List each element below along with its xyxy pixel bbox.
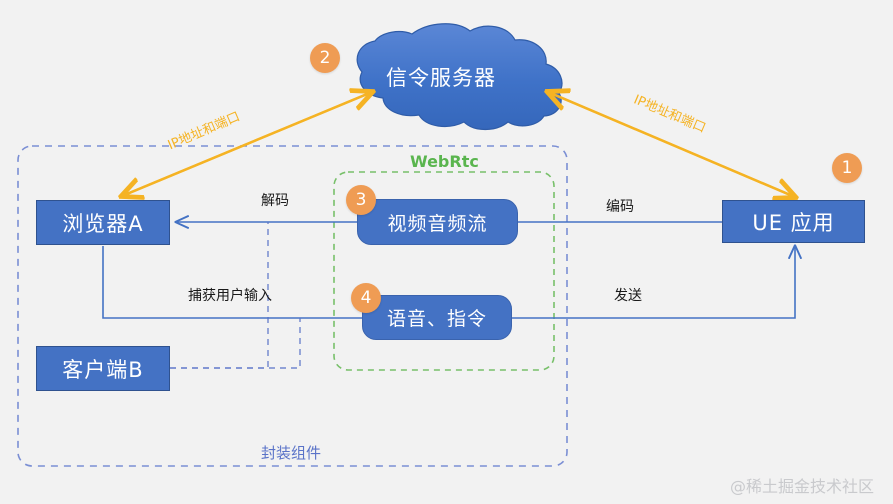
diagram-canvas: 信令服务器 浏览器A 客户端B 视频音频流 语音、指令 UE 应用 1 2 3 … [0, 0, 893, 504]
node-client-b[interactable]: 客户端B [36, 346, 170, 391]
badge-3: 3 [346, 185, 376, 215]
node-browser-a[interactable]: 浏览器A [36, 200, 170, 245]
group-label-package: 封装组件 [261, 442, 321, 463]
watermark: @稀土掘金技术社区 [730, 473, 874, 497]
cloud-label: 信令服务器 [386, 62, 496, 92]
badge-2: 2 [310, 43, 340, 73]
connector-browser-to-voice [103, 246, 362, 318]
edge-label-encode: 编码 [606, 196, 634, 216]
edge-label-capture-input: 捕获用户输入 [188, 285, 272, 305]
node-media-stream[interactable]: 视频音频流 [357, 199, 518, 245]
badge-4: 4 [351, 283, 381, 313]
node-ue-app[interactable]: UE 应用 [722, 200, 865, 243]
group-label-webrtc: WebRtc [410, 152, 479, 171]
dashed-client-b-path [170, 318, 300, 368]
badge-1: 1 [832, 153, 862, 183]
edge-label-send: 发送 [614, 285, 642, 305]
node-voice-command[interactable]: 语音、指令 [362, 295, 512, 340]
edge-label-decode: 解码 [261, 190, 289, 210]
